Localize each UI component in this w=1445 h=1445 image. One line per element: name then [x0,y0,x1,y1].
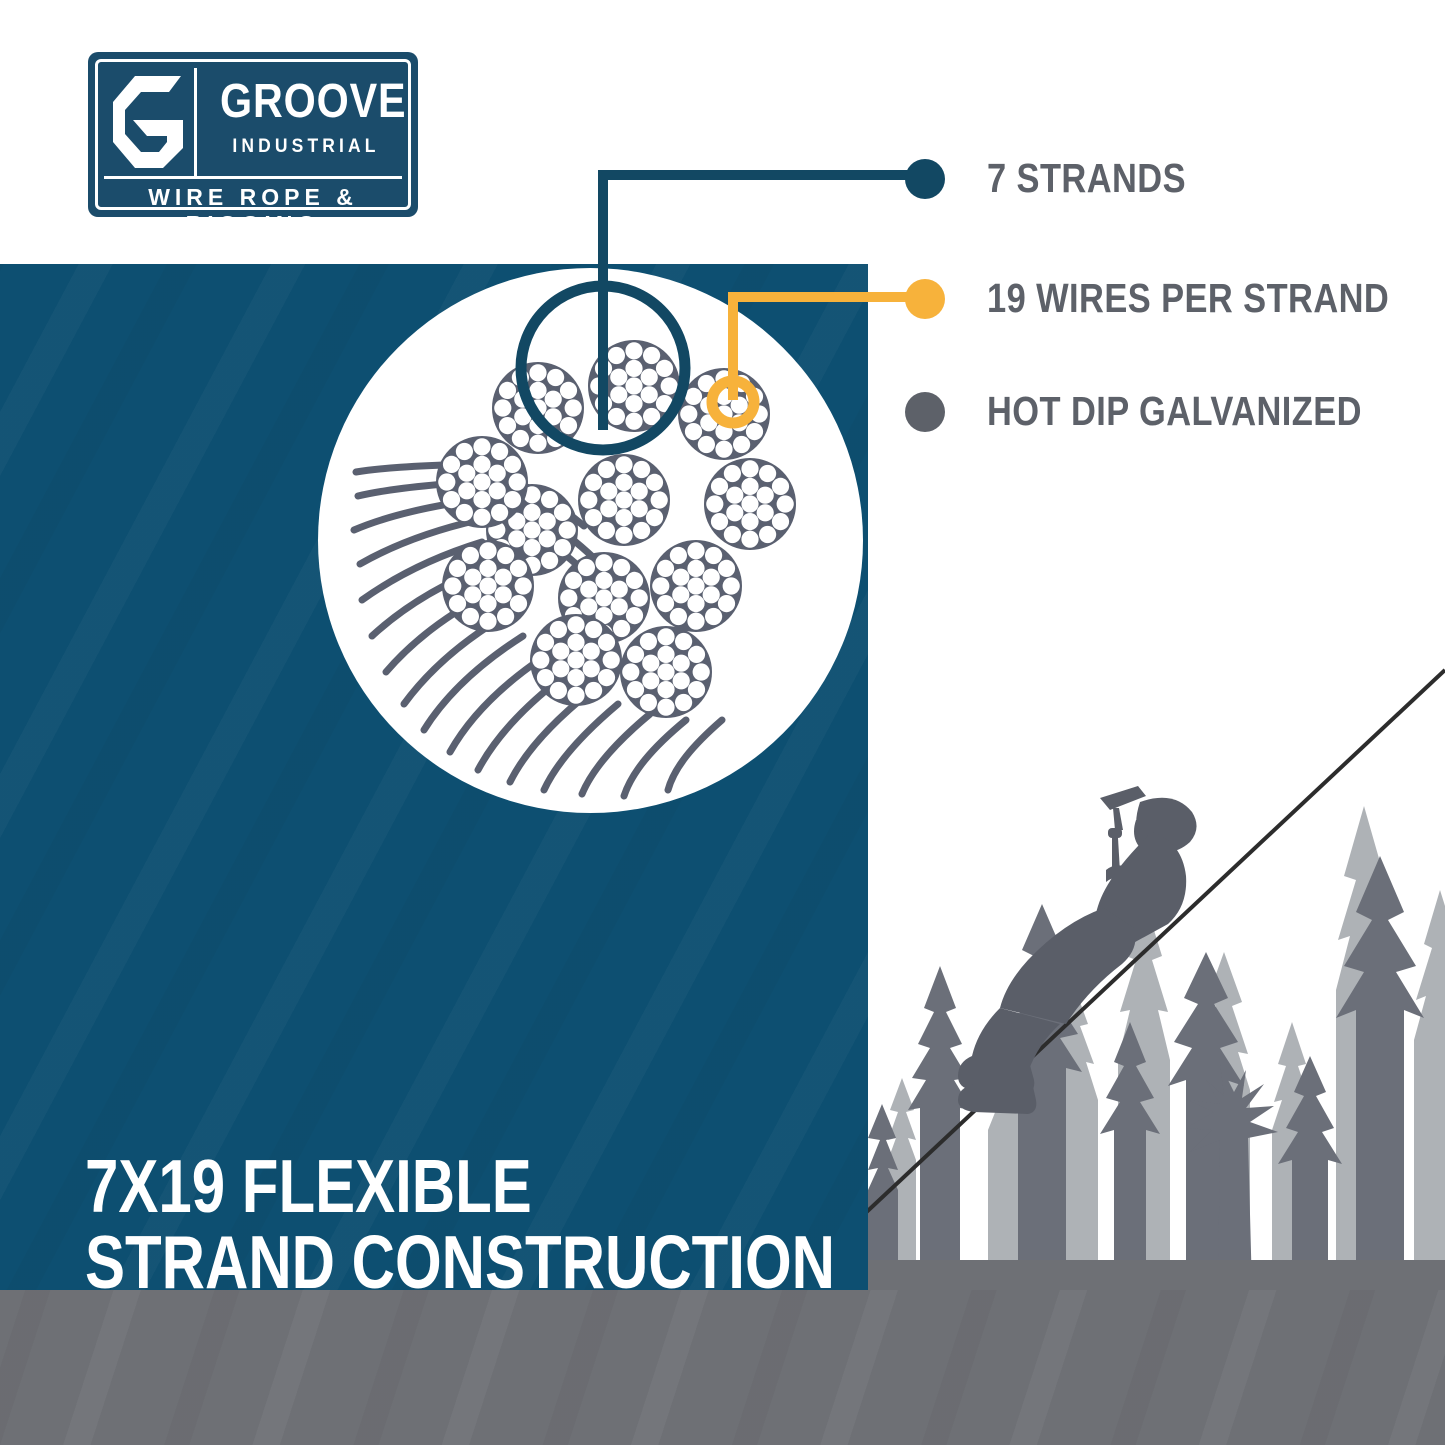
callout-hot-dip-galvanized[interactable]: HOT DIP GALVANIZED [905,388,1433,435]
headline-line-2: STRAND CONSTRUCTION [85,1224,693,1290]
groove-g-hexagon-icon [113,76,185,168]
logo-subwordmark: INDUSTRIAL [214,136,398,158]
logo-divider-horizontal [104,176,402,179]
headline-block: 7X19 FLEXIBLE STRAND CONSTRUCTION [85,1148,845,1290]
callout-dot-gray-icon [905,392,945,432]
band-wave-texture [0,1290,1445,1445]
headline-line-1: 7X19 FLEXIBLE [85,1148,693,1224]
zipline-photo [868,660,1445,1290]
wire-rope-cross-section-illustration [318,268,863,813]
callout-label-wires: 19 WIRES PER STRAND [987,275,1389,322]
callout-label-strands: 7 STRANDS [987,155,1186,202]
callout-wires-per-strand[interactable]: 19 WIRES PER STRAND [905,275,1445,322]
callout-strands[interactable]: 7 STRANDS [905,155,1224,202]
illustration-circle [318,268,863,813]
zipline-scene-illustration [868,660,1445,1290]
callout-dot-navy-icon [905,159,945,199]
logo-divider-vertical [194,68,197,176]
ground-band [868,1260,1445,1290]
callout-dot-yellow-icon [905,279,945,319]
logo-tagline: WIRE ROPE & RIGGING [104,184,402,238]
infographic-page: GROOVE INDUSTRIAL WIRE ROPE & RIGGING 7X… [0,0,1445,1445]
logo-wordmark: GROOVE [220,74,392,130]
bottom-gray-band [0,1290,1445,1445]
brand-logo[interactable]: GROOVE INDUSTRIAL WIRE ROPE & RIGGING [88,52,418,217]
callout-label-galvanized: HOT DIP GALVANIZED [987,388,1362,435]
